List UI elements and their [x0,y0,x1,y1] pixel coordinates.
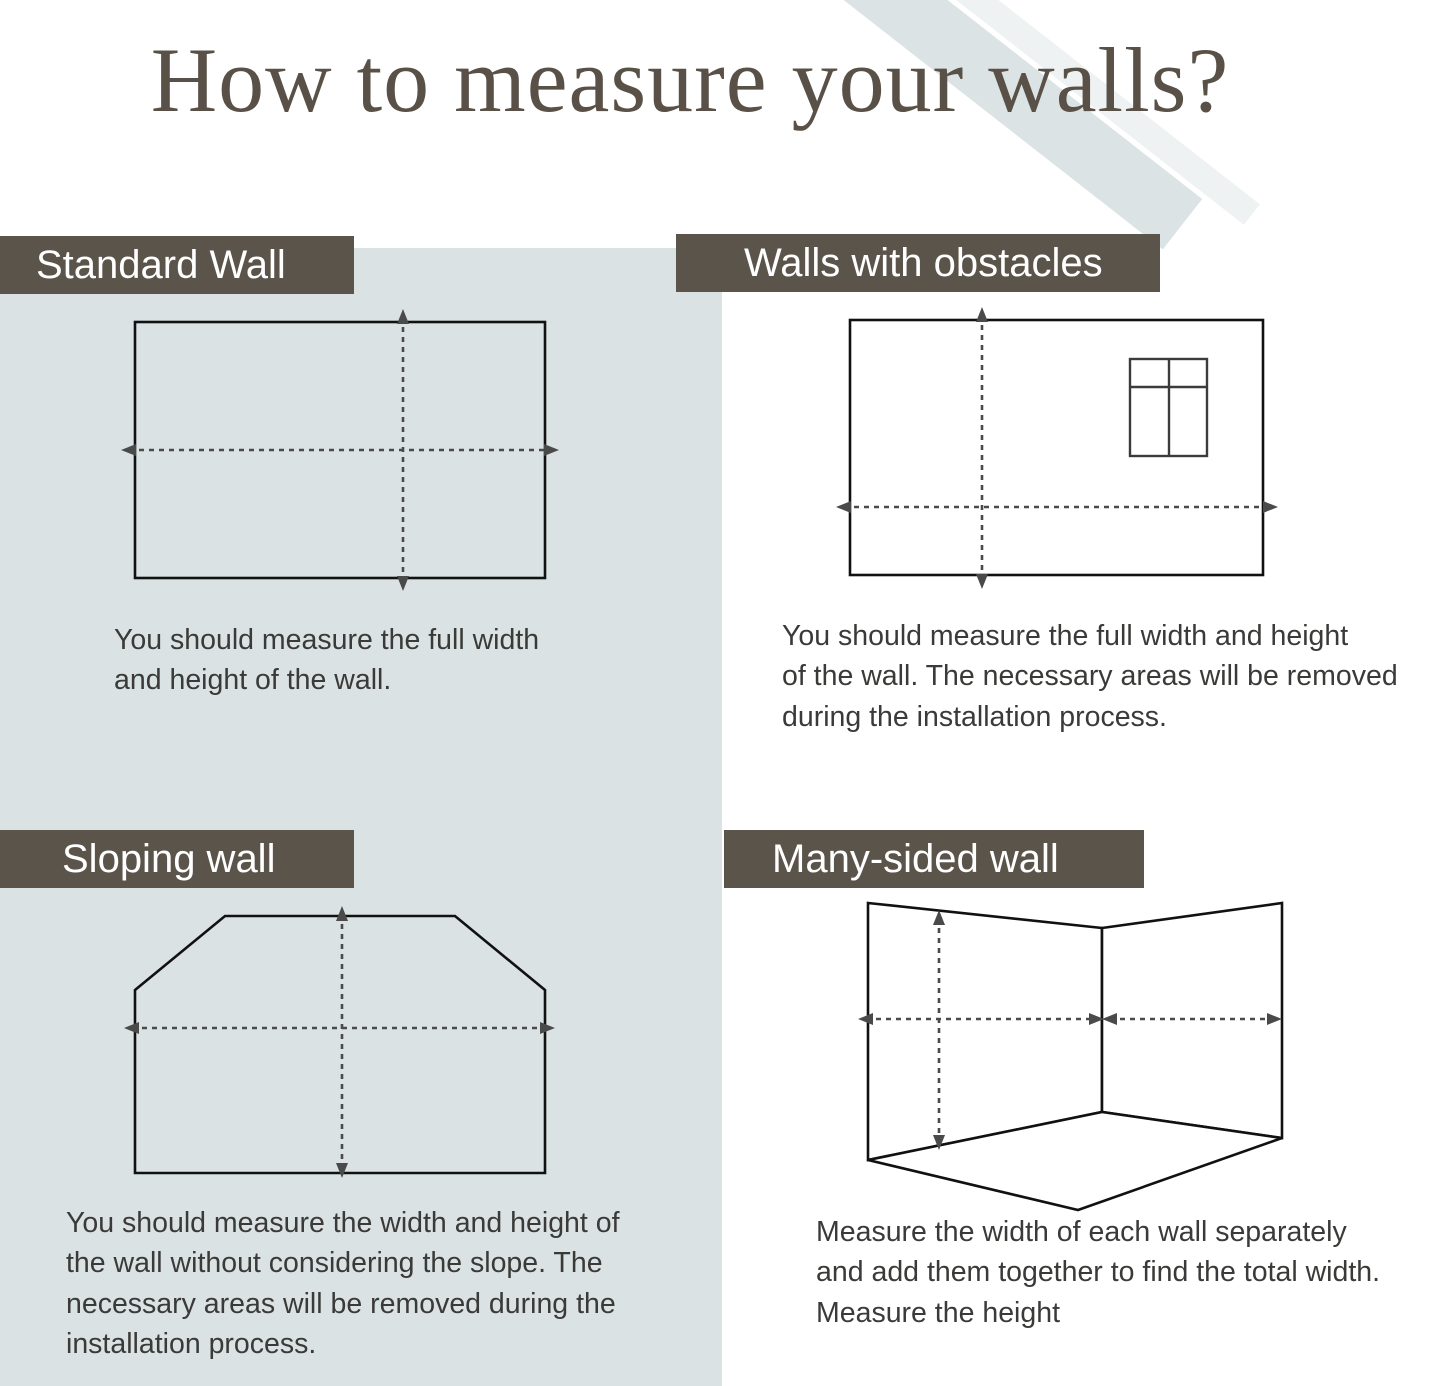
section-header-label: Walls with obstacles [744,243,1103,283]
diagram-walls-with-obstacles [830,300,1290,600]
diagram-standard-wall [120,305,570,600]
section-header-sloping-wall: Sloping wall [0,830,354,888]
section-header-many-sided-wall: Many-sided wall [724,830,1144,888]
section-header-label: Many-sided wall [772,839,1059,879]
section-header-label: Standard Wall [36,245,286,285]
section-header-label: Sloping wall [62,839,275,879]
caption-many-sided-wall: Measure the width of each wall separatel… [816,1212,1426,1333]
caption-walls-with-obstacles: You should measure the full width and he… [782,616,1422,737]
caption-standard-wall: You should measure the full width and he… [114,620,634,701]
section-header-standard-wall: Standard Wall [0,236,354,294]
page-title: How to measure your walls? [0,34,1380,126]
diagram-many-sided-wall [840,890,1320,1220]
section-header-walls-with-obstacles: Walls with obstacles [676,234,1160,292]
infographic-page: How to measure your walls? Standard Wall… [0,0,1445,1386]
caption-sloping-wall: You should measure the width and height … [66,1203,666,1365]
diagram-sloping-wall [110,898,580,1198]
